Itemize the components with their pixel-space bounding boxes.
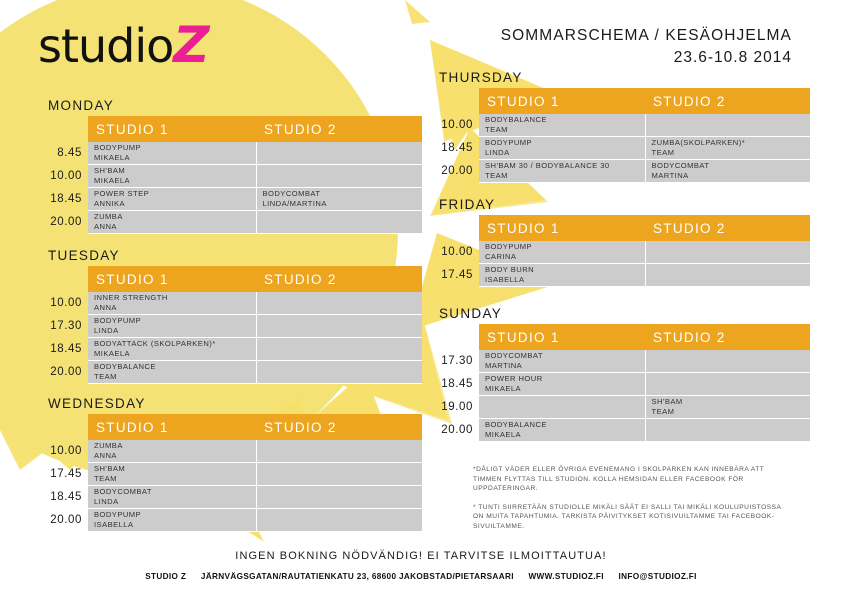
footnotes: *DÅLIGT VÄDER ELLER ÖVRIGA EVENEMANG I S… <box>473 465 793 540</box>
day-title-sunday: SUNDAY <box>439 306 810 321</box>
table-row: 10.00BODYBALANCETEAM <box>429 114 810 137</box>
column-header-studio-1: STUDIO 1 <box>479 88 645 114</box>
class-instructor: ANNA <box>94 303 256 313</box>
class-cell-studio-2 <box>256 440 422 463</box>
column-header-studio-2: STUDIO 2 <box>645 324 810 350</box>
class-cell-studio-1: BODYPUMPISABELLA <box>88 509 256 532</box>
class-cell-studio-2 <box>645 114 810 137</box>
table-header-row: STUDIO 1STUDIO 2 <box>429 324 810 350</box>
class-instructor: TEAM <box>94 474 256 484</box>
class-name: INNER STRENGTH <box>94 293 168 302</box>
class-instructor: TEAM <box>652 407 811 417</box>
row-time: 20.00 <box>429 419 479 442</box>
class-cell-studio-2: ZUMBA(SKOLPARKEN)*TEAM <box>645 137 810 160</box>
day-title-wednesday: WEDNESDAY <box>48 396 422 411</box>
class-name: BODYPUMP <box>94 510 141 519</box>
row-time: 17.30 <box>38 315 88 338</box>
time-header-spacer <box>38 266 88 292</box>
row-time: 10.00 <box>38 292 88 315</box>
day-title-thursday: THURSDAY <box>439 70 810 85</box>
logo-accent-z: Z <box>173 16 207 74</box>
class-instructor: TEAM <box>485 171 645 181</box>
table-row: 20.00BODYPUMPISABELLA <box>38 509 422 532</box>
table-row: 17.45BODY BURNISABELLA <box>429 264 810 287</box>
class-cell-studio-2 <box>645 241 810 264</box>
class-name: BODYPUMP <box>94 143 141 152</box>
day-block-monday: MONDAYSTUDIO 1STUDIO 28.45BODYPUMPMIKAEL… <box>38 98 422 234</box>
class-cell-studio-1 <box>479 396 645 419</box>
class-instructor: MARTINA <box>652 171 811 181</box>
table-row: 8.45BODYPUMPMIKAELA <box>38 142 422 165</box>
footer-studio: STUDIO Z <box>145 572 186 581</box>
class-cell-studio-1: ZUMBAANNA <box>88 211 256 234</box>
column-header-studio-1: STUDIO 1 <box>88 116 256 142</box>
class-cell-studio-2: SH'BAMTEAM <box>645 396 810 419</box>
row-time: 18.45 <box>429 373 479 396</box>
class-cell-studio-1: BODYCOMBATLINDA <box>88 486 256 509</box>
class-instructor: MARTINA <box>485 361 645 371</box>
row-time: 10.00 <box>38 165 88 188</box>
class-name: SH'BAM 30 / BODYBALANCE 30 <box>485 161 610 170</box>
table-header-row: STUDIO 1STUDIO 2 <box>429 88 810 114</box>
table-row: 17.30BODYPUMPLINDA <box>38 315 422 338</box>
class-cell-studio-2 <box>256 509 422 532</box>
day-block-sunday: SUNDAYSTUDIO 1STUDIO 217.30BODYCOMBATMAR… <box>429 306 810 442</box>
class-cell-studio-1: SH'BAMTEAM <box>88 463 256 486</box>
row-time: 17.45 <box>429 264 479 287</box>
table-row: 20.00BODYBALANCETEAM <box>38 361 422 384</box>
class-instructor: ANNA <box>94 222 256 232</box>
class-cell-studio-1: BODYBALANCETEAM <box>479 114 645 137</box>
day-block-thursday: THURSDAYSTUDIO 1STUDIO 210.00BODYBALANCE… <box>429 70 810 183</box>
class-instructor: ISABELLA <box>485 275 645 285</box>
table-row: 10.00INNER STRENGTHANNA <box>38 292 422 315</box>
class-name: ZUMBA <box>94 212 123 221</box>
class-instructor: LINDA <box>94 326 256 336</box>
class-cell-studio-2: BODYCOMBATMARTINA <box>645 160 810 183</box>
column-header-studio-2: STUDIO 2 <box>256 116 422 142</box>
class-cell-studio-1: BODYATTACK (SKOLPARKEN)*MIKAELA <box>88 338 256 361</box>
class-cell-studio-2 <box>645 264 810 287</box>
column-header-studio-2: STUDIO 2 <box>645 88 810 114</box>
day-block-tuesday: TUESDAYSTUDIO 1STUDIO 210.00INNER STRENG… <box>38 248 422 384</box>
row-time: 17.30 <box>429 350 479 373</box>
table-row: 20.00SH'BAM 30 / BODYBALANCE 30TEAMBODYC… <box>429 160 810 183</box>
class-instructor: MIKAELA <box>94 153 256 163</box>
footnote-2: * TUNTI SIIRRETÄÄN STUDIOLLE MIKÄLI SÄÄT… <box>473 503 793 532</box>
class-instructor: ANNA <box>94 451 256 461</box>
day-block-friday: FRIDAYSTUDIO 1STUDIO 210.00BODYPUMPCARIN… <box>429 197 810 287</box>
class-cell-studio-2 <box>645 373 810 396</box>
table-row: 17.30BODYCOMBATMARTINA <box>429 350 810 373</box>
class-name: BODYBALANCE <box>485 420 547 429</box>
table-row: 10.00SH'BAMMIKAELA <box>38 165 422 188</box>
class-name: BODYBALANCE <box>485 115 547 124</box>
row-time: 18.45 <box>38 188 88 211</box>
class-cell-studio-1: POWER STEPANNIKA <box>88 188 256 211</box>
row-time: 20.00 <box>38 361 88 384</box>
row-time: 17.45 <box>38 463 88 486</box>
table-row: 20.00BODYBALANCEMIKAELA <box>429 419 810 442</box>
footer-email[interactable]: INFO@STUDIOZ.FI <box>619 572 697 581</box>
footnote-1: *DÅLIGT VÄDER ELLER ÖVRIGA EVENEMANG I S… <box>473 465 793 494</box>
schedule-table-wednesday: STUDIO 1STUDIO 210.00ZUMBAANNA17.45SH'BA… <box>38 414 422 532</box>
day-title-friday: FRIDAY <box>439 197 810 212</box>
logo: studioZ <box>38 22 208 69</box>
no-booking-notice: INGEN BOKNING NÖDVÄNDIG! EI TARVITSE ILM… <box>0 550 842 562</box>
class-name: SH'BAM <box>94 464 125 473</box>
day-block-wednesday: WEDNESDAYSTUDIO 1STUDIO 210.00ZUMBAANNA1… <box>38 396 422 532</box>
class-cell-studio-2 <box>256 292 422 315</box>
table-row: 19.00SH'BAMTEAM <box>429 396 810 419</box>
class-instructor: MIKAELA <box>485 384 645 394</box>
time-header-spacer <box>38 414 88 440</box>
footer-website[interactable]: WWW.STUDIOZ.FI <box>528 572 603 581</box>
class-cell-studio-2 <box>256 142 422 165</box>
class-cell-studio-2 <box>256 211 422 234</box>
table-row: 17.45SH'BAMTEAM <box>38 463 422 486</box>
schedule-table-tuesday: STUDIO 1STUDIO 210.00INNER STRENGTHANNA1… <box>38 266 422 384</box>
class-cell-studio-1: SH'BAMMIKAELA <box>88 165 256 188</box>
class-instructor: TEAM <box>485 125 645 135</box>
class-cell-studio-2 <box>256 361 422 384</box>
class-cell-studio-1: BODYPUMPCARINA <box>479 241 645 264</box>
day-title-monday: MONDAY <box>48 98 422 113</box>
class-cell-studio-2 <box>256 463 422 486</box>
class-cell-studio-1: ZUMBAANNA <box>88 440 256 463</box>
class-cell-studio-1: BODYPUMPMIKAELA <box>88 142 256 165</box>
class-name: BODYCOMBAT <box>94 487 152 496</box>
column-header-studio-1: STUDIO 1 <box>88 414 256 440</box>
class-instructor: CARINA <box>485 252 645 262</box>
table-row: 18.45POWER HOURMIKAELA <box>429 373 810 396</box>
row-time: 20.00 <box>429 160 479 183</box>
column-header-studio-1: STUDIO 1 <box>479 215 645 241</box>
class-instructor: TEAM <box>652 148 811 158</box>
class-name: SH'BAM <box>652 397 683 406</box>
class-name: SH'BAM <box>94 166 125 175</box>
row-time: 19.00 <box>429 396 479 419</box>
class-instructor: ISABELLA <box>94 520 256 530</box>
class-instructor: LINDA/MARTINA <box>263 199 423 209</box>
class-cell-studio-1: SH'BAM 30 / BODYBALANCE 30TEAM <box>479 160 645 183</box>
table-header-row: STUDIO 1STUDIO 2 <box>429 215 810 241</box>
schedule-table-monday: STUDIO 1STUDIO 28.45BODYPUMPMIKAELA10.00… <box>38 116 422 234</box>
class-name: BODY BURN <box>485 265 534 274</box>
class-name: BODYPUMP <box>485 242 532 251</box>
row-time: 10.00 <box>429 241 479 264</box>
class-instructor: MIKAELA <box>94 176 256 186</box>
class-cell-studio-2: BODYCOMBATLINDA/MARTINA <box>256 188 422 211</box>
table-row: 20.00ZUMBAANNA <box>38 211 422 234</box>
class-cell-studio-1: POWER HOURMIKAELA <box>479 373 645 396</box>
table-header-row: STUDIO 1STUDIO 2 <box>38 414 422 440</box>
column-header-studio-1: STUDIO 1 <box>479 324 645 350</box>
class-cell-studio-1: INNER STRENGTHANNA <box>88 292 256 315</box>
class-name: ZUMBA <box>94 441 123 450</box>
column-header-studio-2: STUDIO 2 <box>256 266 422 292</box>
table-row: 10.00BODYPUMPCARINA <box>429 241 810 264</box>
schedule-table-thursday: STUDIO 1STUDIO 210.00BODYBALANCETEAM18.4… <box>429 88 810 183</box>
table-row: 18.45BODYATTACK (SKOLPARKEN)*MIKAELA <box>38 338 422 361</box>
class-name: BODYPUMP <box>94 316 141 325</box>
schedule-table-sunday: STUDIO 1STUDIO 217.30BODYCOMBATMARTINA18… <box>429 324 810 442</box>
logo-text: studio <box>38 19 173 73</box>
time-header-spacer <box>38 116 88 142</box>
row-time: 8.45 <box>38 142 88 165</box>
class-cell-studio-2 <box>256 165 422 188</box>
column-header-studio-2: STUDIO 2 <box>256 414 422 440</box>
table-row: 18.45BODYPUMPLINDAZUMBA(SKOLPARKEN)*TEAM <box>429 137 810 160</box>
document-title: SOMMARSCHEMA / KESÄOHJELMA 23.6-10.8 201… <box>501 25 792 69</box>
class-name: BODYCOMBAT <box>485 351 543 360</box>
class-instructor: ANNIKA <box>94 199 256 209</box>
class-name: BODYCOMBAT <box>263 189 321 198</box>
row-time: 18.45 <box>38 486 88 509</box>
class-name: ZUMBA(SKOLPARKEN)* <box>652 138 746 147</box>
class-name: BODYCOMBAT <box>652 161 710 170</box>
class-cell-studio-1: BODY BURNISABELLA <box>479 264 645 287</box>
class-cell-studio-2 <box>645 419 810 442</box>
row-time: 18.45 <box>429 137 479 160</box>
class-cell-studio-1: BODYCOMBATMARTINA <box>479 350 645 373</box>
time-header-spacer <box>429 215 479 241</box>
title-date-range: 23.6-10.8 2014 <box>501 47 792 69</box>
class-cell-studio-1: BODYPUMPLINDA <box>88 315 256 338</box>
class-cell-studio-1: BODYBALANCEMIKAELA <box>479 419 645 442</box>
class-cell-studio-1: BODYPUMPLINDA <box>479 137 645 160</box>
table-header-row: STUDIO 1STUDIO 2 <box>38 116 422 142</box>
class-name: BODYATTACK (SKOLPARKEN)* <box>94 339 216 348</box>
table-header-row: STUDIO 1STUDIO 2 <box>38 266 422 292</box>
row-time: 20.00 <box>38 509 88 532</box>
class-cell-studio-2 <box>256 338 422 361</box>
table-row: 18.45POWER STEPANNIKABODYCOMBATLINDA/MAR… <box>38 188 422 211</box>
class-cell-studio-2 <box>645 350 810 373</box>
row-time: 10.00 <box>429 114 479 137</box>
class-instructor: LINDA <box>485 148 645 158</box>
class-name: BODYPUMP <box>485 138 532 147</box>
column-header-studio-1: STUDIO 1 <box>88 266 256 292</box>
class-instructor: MIKAELA <box>485 430 645 440</box>
class-cell-studio-2 <box>256 486 422 509</box>
class-cell-studio-2 <box>256 315 422 338</box>
class-name: POWER HOUR <box>485 374 543 383</box>
schedule-table-friday: STUDIO 1STUDIO 210.00BODYPUMPCARINA17.45… <box>429 215 810 287</box>
class-instructor: MIKAELA <box>94 349 256 359</box>
column-header-studio-2: STUDIO 2 <box>645 215 810 241</box>
footer-address: JÄRNVÄGSGATAN/RAUTATIENKATU 23, 68600 JA… <box>201 572 514 581</box>
table-row: 18.45BODYCOMBATLINDA <box>38 486 422 509</box>
table-row: 10.00ZUMBAANNA <box>38 440 422 463</box>
contact-footer: STUDIO Z JÄRNVÄGSGATAN/RAUTATIENKATU 23,… <box>0 572 842 581</box>
class-instructor: TEAM <box>94 372 256 382</box>
day-title-tuesday: TUESDAY <box>48 248 422 263</box>
class-name: POWER STEP <box>94 189 149 198</box>
row-time: 10.00 <box>38 440 88 463</box>
title-main: SOMMARSCHEMA / KESÄOHJELMA <box>501 27 792 44</box>
time-header-spacer <box>429 324 479 350</box>
row-time: 20.00 <box>38 211 88 234</box>
class-instructor: LINDA <box>94 497 256 507</box>
class-cell-studio-1: BODYBALANCETEAM <box>88 361 256 384</box>
class-name: BODYBALANCE <box>94 362 156 371</box>
row-time: 18.45 <box>38 338 88 361</box>
time-header-spacer <box>429 88 479 114</box>
